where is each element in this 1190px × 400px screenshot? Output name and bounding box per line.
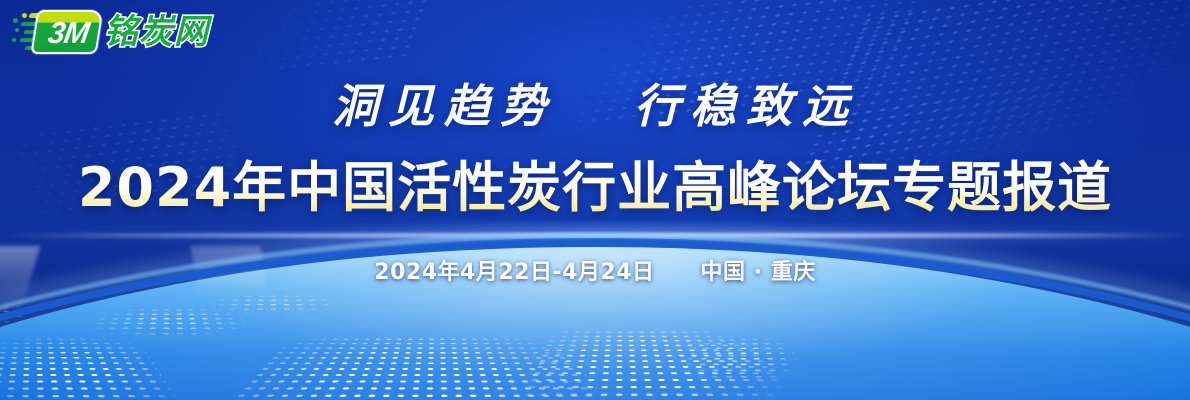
logo-brand-name: 铭炭网: [104, 8, 209, 56]
bg-dot-patch: [233, 0, 437, 75]
logo-mark-3m: 3M: [12, 8, 100, 56]
globe-graphic: [0, 220, 1190, 400]
event-meta: 2024年4月22日-4月24日 中国 · 重庆: [0, 258, 1190, 288]
event-location: 中国 · 重庆: [701, 258, 816, 288]
event-date: 2024年4月22日-4月24日: [374, 258, 654, 288]
logo-mark-text: 3M: [35, 17, 101, 55]
slogan-part-1: 洞见趋势: [332, 79, 556, 133]
page-title: 2024年中国活性炭行业高峰论坛专题报道: [0, 152, 1190, 224]
conference-banner: 3M 铭炭网 洞见趋势 行稳致远 2024年中国活性炭行业高峰论坛专题报道 20…: [0, 0, 1190, 400]
slogan-part-2: 行稳致远: [634, 79, 858, 133]
slogan: 洞见趋势 行稳致远: [0, 78, 1190, 134]
site-logo[interactable]: 3M 铭炭网: [12, 8, 209, 56]
